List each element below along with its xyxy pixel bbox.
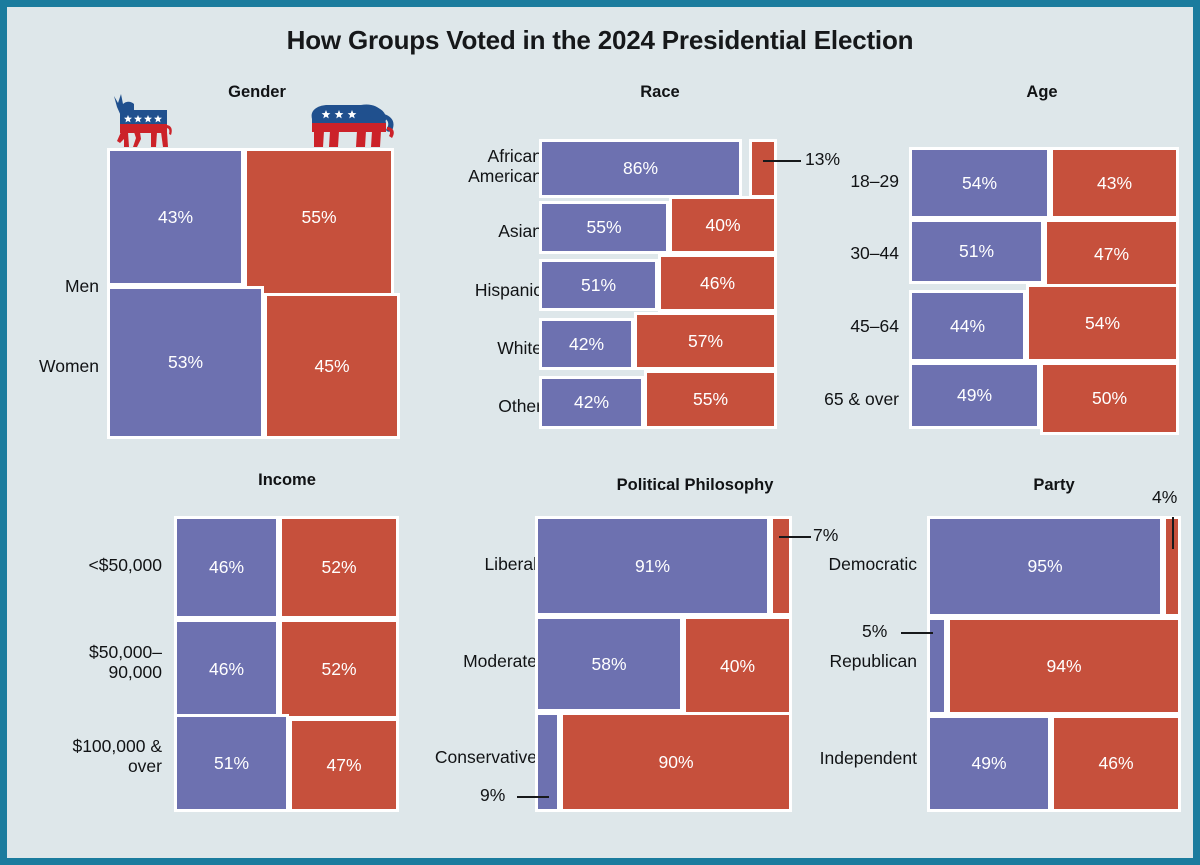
- row-label-under-50000: <$50,000: [7, 556, 162, 576]
- callout-leader-party-republican: [901, 632, 933, 634]
- row-label-50000-90000: $50,000– 90,000: [7, 643, 162, 682]
- bar-age-18-29-republican[interactable]: 43%: [1050, 147, 1179, 219]
- bar-philosophy-moderate-republican[interactable]: 40%: [683, 616, 792, 716]
- callout-leader-party-democratic: [1172, 517, 1174, 549]
- bar-income-100000-over-republican[interactable]: 47%: [289, 718, 399, 812]
- row-label-100000-over: $100,000 & over: [7, 737, 162, 776]
- callout-party-republican-democratic: 5%: [862, 621, 887, 642]
- bar-value: 50%: [1092, 388, 1127, 409]
- row-label-moderate: Moderate: [427, 652, 537, 672]
- bar-value: 46%: [209, 557, 244, 578]
- row-label-asian: Asian: [427, 222, 542, 242]
- bar-value: 55%: [693, 389, 728, 410]
- bar-value: 55%: [586, 217, 621, 238]
- panel-party: Party Democratic 95% 4% Republican 94% 5…: [797, 465, 1200, 825]
- panel-title-race: Race: [560, 83, 760, 102]
- bar-race-other-republican[interactable]: 55%: [644, 370, 777, 429]
- bar-value: 86%: [623, 158, 658, 179]
- bar-income-100000-over-democratic[interactable]: 51%: [174, 714, 289, 812]
- row-label-party-independent: Independent: [797, 749, 917, 769]
- panel-title-party: Party: [954, 476, 1154, 495]
- bar-value: 46%: [209, 659, 244, 680]
- callout-party-democratic-republican: 4%: [1152, 487, 1177, 508]
- bar-party-republican-republican[interactable]: 94%: [947, 617, 1181, 715]
- bar-value: 45%: [314, 356, 349, 377]
- panel-title-age: Age: [942, 83, 1142, 102]
- bar-value: 53%: [168, 352, 203, 373]
- bar-age-45-64-republican[interactable]: 54%: [1026, 284, 1179, 362]
- panel-race: Race African American 86% 13% Asian 55% …: [427, 77, 847, 447]
- bar-value: 47%: [1094, 244, 1129, 265]
- bar-value: 42%: [574, 392, 609, 413]
- row-label-hispanic: Hispanic: [427, 281, 542, 301]
- row-label-white: White: [427, 339, 542, 359]
- bar-value: 94%: [1046, 656, 1081, 677]
- bar-value: 52%: [321, 659, 356, 680]
- infographic-canvas: How Groups Voted in the 2024 Presidentia…: [0, 0, 1200, 865]
- row-label-men: Men: [7, 277, 99, 297]
- bar-value: 43%: [1097, 173, 1132, 194]
- bar-value: 51%: [581, 275, 616, 296]
- bar-race-other-democratic[interactable]: 42%: [539, 376, 644, 429]
- bar-race-white-republican[interactable]: 57%: [634, 312, 777, 370]
- bar-philosophy-liberal-democratic[interactable]: 91%: [535, 516, 770, 616]
- callout-philosophy-conservative-democratic: 9%: [480, 785, 505, 806]
- row-label-30-44: 30–44: [797, 244, 899, 264]
- panel-age: Age 18–29 54% 43% 30–44 51% 47% 45–64 44…: [797, 77, 1200, 447]
- bar-party-democratic-democratic[interactable]: 95%: [927, 516, 1163, 617]
- bar-value: 95%: [1027, 556, 1062, 577]
- panel-gender: Gender: [7, 77, 427, 447]
- bar-party-independent-democratic[interactable]: 49%: [927, 715, 1051, 812]
- row-label-party-republican: Republican: [797, 652, 917, 672]
- bar-value: 52%: [321, 557, 356, 578]
- panel-income: Income <$50,000 46% 52% $50,000– 90,000 …: [7, 465, 427, 825]
- panel-title-income: Income: [187, 471, 387, 490]
- row-label-women: Women: [7, 357, 99, 377]
- bar-age-30-44-republican[interactable]: 47%: [1044, 219, 1179, 290]
- bar-philosophy-moderate-democratic[interactable]: 58%: [535, 616, 683, 712]
- bar-philosophy-conservative-republican[interactable]: 90%: [560, 712, 792, 812]
- bar-value: 40%: [720, 656, 755, 677]
- row-label-african-american: African American: [427, 147, 542, 186]
- bar-age-65-over-democratic[interactable]: 49%: [909, 362, 1040, 429]
- panel-political-philosophy: Political Philosophy Liberal 91% 7% Mode…: [427, 465, 827, 825]
- republican-elephant-icon: [306, 91, 398, 154]
- bar-gender-women-republican[interactable]: 45%: [264, 293, 400, 439]
- bar-race-african-american-republican[interactable]: [749, 139, 777, 198]
- panel-title-political-philosophy: Political Philosophy: [575, 476, 815, 495]
- bar-value: 42%: [569, 334, 604, 355]
- bar-gender-men-democratic[interactable]: 43%: [107, 148, 244, 286]
- bar-value: 51%: [959, 241, 994, 262]
- row-label-party-democratic: Democratic: [797, 555, 917, 575]
- row-label-65-over: 65 & over: [797, 390, 899, 410]
- bar-age-30-44-democratic[interactable]: 51%: [909, 219, 1044, 284]
- bar-race-asian-republican[interactable]: 40%: [669, 196, 777, 254]
- bar-income-50000-90000-democratic[interactable]: 46%: [174, 619, 279, 719]
- bar-value: 54%: [962, 173, 997, 194]
- row-label-other: Other: [427, 397, 542, 417]
- bar-value: 91%: [635, 556, 670, 577]
- bar-race-hispanic-republican[interactable]: 46%: [658, 254, 777, 312]
- bar-race-white-democratic[interactable]: 42%: [539, 318, 634, 370]
- bar-race-asian-democratic[interactable]: 55%: [539, 201, 669, 254]
- democratic-donkey-icon: [107, 91, 173, 154]
- bar-value: 44%: [950, 316, 985, 337]
- callout-leader-race-african-american: [763, 160, 801, 162]
- bar-age-18-29-democratic[interactable]: 54%: [909, 147, 1050, 219]
- row-label-liberal: Liberal: [427, 555, 537, 575]
- bar-value: 46%: [1098, 753, 1133, 774]
- row-label-conservative: Conservative: [427, 748, 537, 768]
- row-label-18-29: 18–29: [797, 172, 899, 192]
- bar-value: 49%: [971, 753, 1006, 774]
- callout-leader-philosophy-conservative: [517, 796, 549, 798]
- bar-age-65-over-republican[interactable]: 50%: [1040, 362, 1179, 435]
- bar-value: 54%: [1085, 313, 1120, 334]
- bar-value: 49%: [957, 385, 992, 406]
- bar-value: 40%: [705, 215, 740, 236]
- bar-age-45-64-democratic[interactable]: 44%: [909, 290, 1026, 362]
- bar-philosophy-liberal-republican[interactable]: [770, 516, 792, 616]
- bar-value: 55%: [301, 207, 336, 228]
- bar-value: 47%: [326, 755, 361, 776]
- bar-value: 43%: [158, 207, 193, 228]
- bar-race-hispanic-democratic[interactable]: 51%: [539, 259, 658, 311]
- bar-income-under-50000-democratic[interactable]: 46%: [174, 516, 279, 619]
- bar-value: 46%: [700, 273, 735, 294]
- bar-gender-women-democratic[interactable]: 53%: [107, 286, 264, 439]
- bar-value: 58%: [591, 654, 626, 675]
- bar-income-under-50000-republican[interactable]: 52%: [279, 516, 399, 619]
- bar-race-african-american-democratic[interactable]: 86%: [539, 139, 742, 198]
- bar-value: 90%: [658, 752, 693, 773]
- bar-income-50000-90000-republican[interactable]: 52%: [279, 619, 399, 719]
- row-label-45-64: 45–64: [797, 317, 899, 337]
- bar-value: 51%: [214, 753, 249, 774]
- page-title: How Groups Voted in the 2024 Presidentia…: [7, 25, 1193, 56]
- bar-party-independent-republican[interactable]: 46%: [1051, 715, 1181, 812]
- bar-value: 57%: [688, 331, 723, 352]
